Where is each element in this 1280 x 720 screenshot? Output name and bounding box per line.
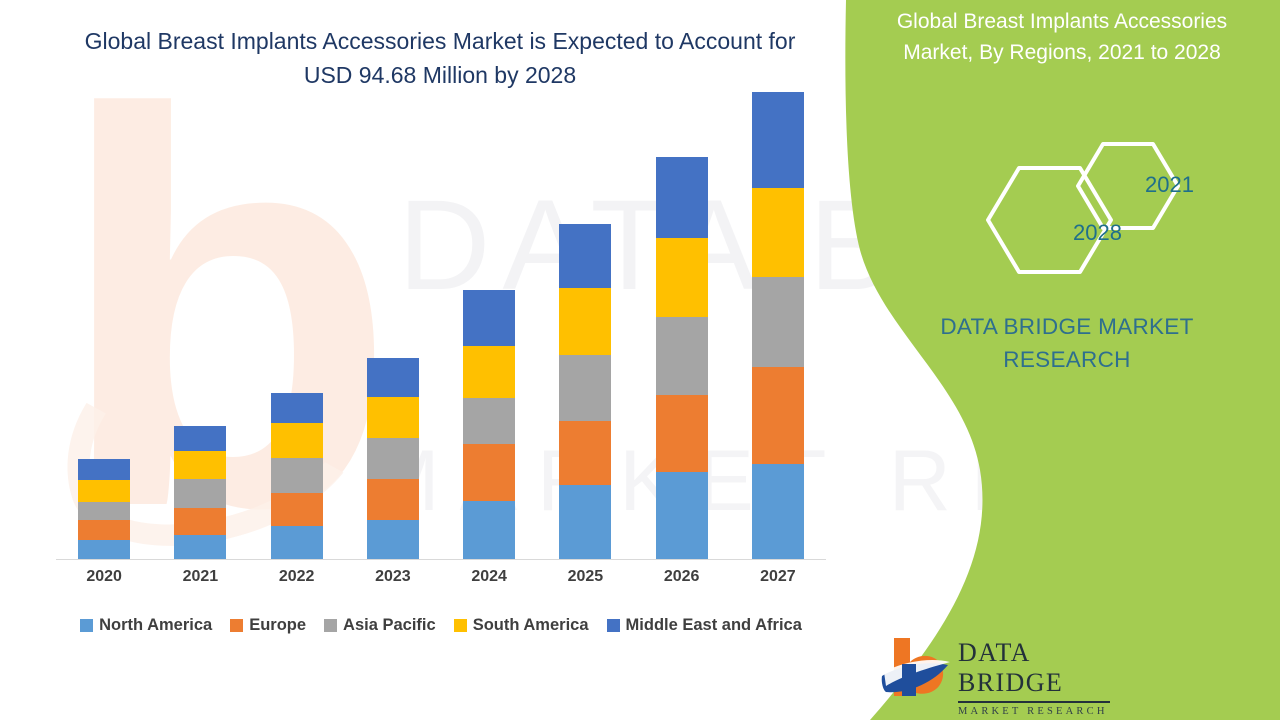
bar-segment (78, 480, 130, 502)
bar-column-2024 (463, 290, 515, 559)
bar-segment (559, 224, 611, 288)
stacked-bar-group (56, 91, 826, 559)
bar-segment (367, 520, 419, 559)
bar-segment (367, 479, 419, 520)
bar-segment (752, 367, 804, 463)
bar-segment (174, 508, 226, 536)
bar-segment (174, 426, 226, 451)
bar-segment (463, 290, 515, 345)
legend-item[interactable]: Asia Pacific (324, 616, 436, 635)
logo-wordmark: DATA BRIDGE MARKET RESEARCH (958, 638, 1130, 717)
bar-segment (463, 346, 515, 399)
bar-column-2022 (271, 393, 323, 559)
bar-segment (559, 485, 611, 559)
hexagon-label-2021: 2021 (1145, 172, 1194, 198)
legend-label: Middle East and Africa (626, 616, 802, 635)
bar-segment (559, 288, 611, 355)
legend-label: Europe (249, 616, 306, 635)
chart-plot-area (56, 90, 826, 560)
legend-label: Asia Pacific (343, 616, 436, 635)
bar-segment (271, 526, 323, 559)
bar-segment (752, 188, 804, 277)
hexagon-label-2028: 2028 (1073, 220, 1122, 246)
bar-segment (78, 540, 130, 559)
bar-segment (656, 317, 708, 395)
logo-mark-icon (882, 638, 950, 696)
bar-column-2026 (656, 157, 708, 559)
bar-segment (463, 444, 515, 502)
x-axis-label-2026: 2026 (656, 568, 708, 586)
legend-label: South America (473, 616, 589, 635)
chart-title: Global Breast Implants Accessories Marke… (70, 24, 810, 92)
bar-column-2021 (174, 426, 226, 559)
bar-segment (271, 493, 323, 526)
bar-column-2020 (78, 459, 130, 559)
legend-label: North America (99, 616, 212, 635)
legend-swatch-icon (607, 619, 620, 632)
infographic-slide: b DATA B MARKET RESEARCH Global Breast I… (0, 0, 1280, 720)
x-axis-label-2025: 2025 (559, 568, 611, 586)
x-axis-label-2027: 2027 (752, 568, 804, 586)
brand-name: DATA BRIDGE MARKET RESEARCH (882, 310, 1252, 376)
bar-segment (752, 92, 804, 188)
bar-segment (752, 464, 804, 560)
bar-segment (752, 277, 804, 367)
bar-column-2027 (752, 92, 804, 559)
logo-divider (958, 701, 1110, 703)
bar-segment (174, 451, 226, 479)
logo-primary-text: DATA BRIDGE (958, 638, 1130, 698)
chart-legend: North AmericaEuropeAsia PacificSouth Ame… (56, 616, 826, 635)
bar-segment (174, 479, 226, 508)
bar-segment (559, 421, 611, 485)
bar-segment (656, 472, 708, 559)
x-axis-tick-labels: 20202021202220232024202520262027 (56, 568, 826, 586)
legend-swatch-icon (324, 619, 337, 632)
logo-secondary-text: MARKET RESEARCH (958, 706, 1130, 717)
bar-segment (271, 393, 323, 423)
x-axis-label-2022: 2022 (271, 568, 323, 586)
bar-segment (367, 358, 419, 397)
bar-segment (271, 458, 323, 493)
legend-item[interactable]: South America (454, 616, 589, 635)
legend-item[interactable]: Middle East and Africa (607, 616, 802, 635)
bar-segment (463, 398, 515, 443)
bar-segment (656, 395, 708, 473)
bar-segment (174, 535, 226, 559)
bar-segment (367, 438, 419, 479)
legend-swatch-icon (230, 619, 243, 632)
bar-segment (78, 459, 130, 481)
legend-swatch-icon (80, 619, 93, 632)
legend-item[interactable]: Europe (230, 616, 306, 635)
x-axis-label-2024: 2024 (463, 568, 515, 586)
legend-item[interactable]: North America (80, 616, 212, 635)
x-axis-label-2020: 2020 (78, 568, 130, 586)
bar-column-2025 (559, 224, 611, 559)
bar-segment (78, 520, 130, 540)
bar-segment (463, 501, 515, 559)
x-axis-line (56, 559, 826, 560)
bar-segment (559, 355, 611, 422)
bar-segment (78, 502, 130, 521)
data-bridge-logo: DATA BRIDGE MARKET RESEARCH (880, 632, 1130, 702)
bar-segment (656, 238, 708, 317)
panel-title: Global Breast Implants Accessories Marke… (862, 6, 1262, 68)
legend-swatch-icon (454, 619, 467, 632)
bar-segment (271, 423, 323, 458)
x-axis-label-2023: 2023 (367, 568, 419, 586)
bar-segment (656, 157, 708, 238)
x-axis-label-2021: 2021 (174, 568, 226, 586)
bar-segment (367, 397, 419, 438)
bar-column-2023 (367, 358, 419, 559)
